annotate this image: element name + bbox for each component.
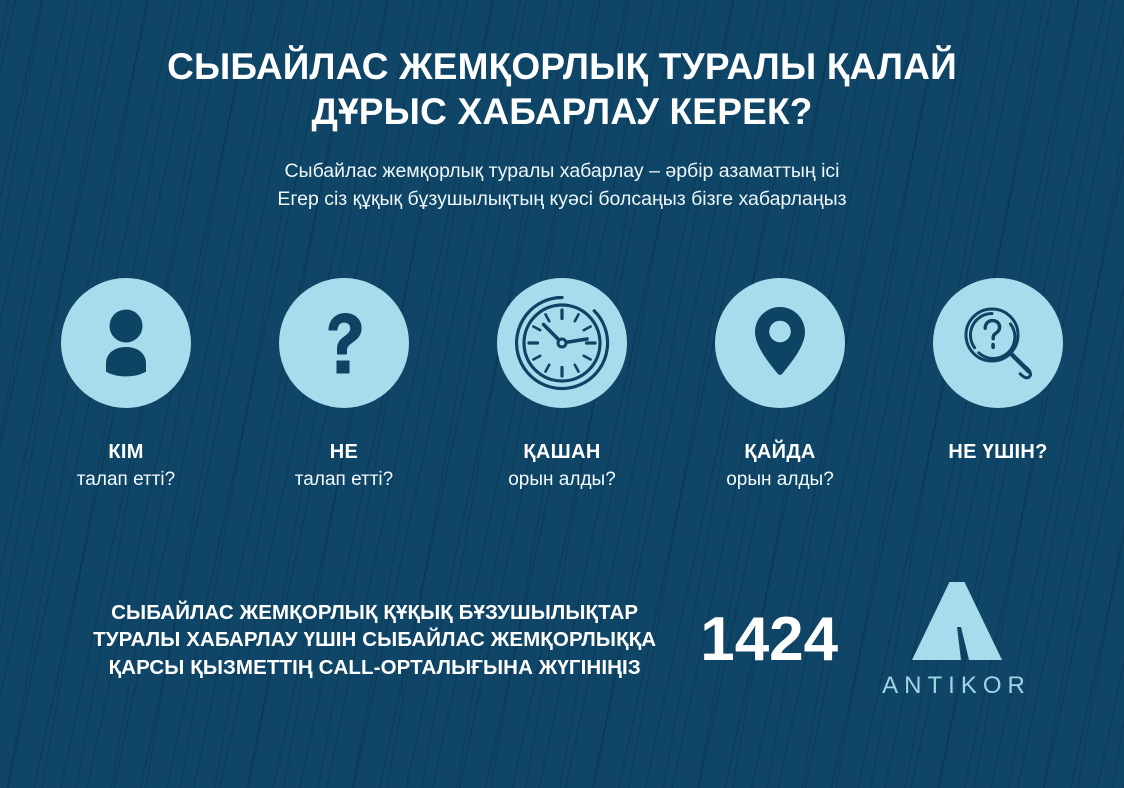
icon-label-what: НЕ талап етті? (295, 440, 393, 492)
icon-label-when-main: ҚАШАН (508, 440, 616, 466)
page-title-line-1: СЫБАЙЛАС ЖЕМҚОРЛЫҚ ТУРАЛЫ ҚАЛАЙ (95, 44, 1029, 89)
icon-label-when-sub: орын алды? (508, 468, 616, 492)
icon-label-what-sub: талап етті? (295, 468, 393, 492)
footer-instruction-text: СЫБАЙЛАС ЖЕМҚОРЛЫҚ ҚҰҚЫҚ БҰЗУШЫЛЫҚТАР ТУ… (93, 599, 656, 681)
icon-label-why: НЕ ҮШІН? (948, 440, 1047, 466)
brand-wordmark: ANTIKOR (882, 672, 1031, 700)
icon-label-where-sub: орын алды? (726, 468, 834, 492)
page-title: СЫБАЙЛАС ЖЕМҚОРЛЫҚ ТУРАЛЫ ҚАЛАЙ ДҰРЫС ХА… (0, 44, 1124, 134)
poster-root: СЫБАЙЛАС ЖЕМҚОРЛЫҚ ТУРАЛЫ ҚАЛАЙ ДҰРЫС ХА… (0, 0, 1124, 788)
page-subtitle-line-1: Сыбайлас жемқорлық туралы хабарлау – әрб… (0, 158, 1124, 186)
icon-label-what-main: НЕ (295, 440, 393, 466)
footer-line-2: ТУРАЛЫ ХАБАРЛАУ ҮШІН СЫБАЙЛАС ЖЕМҚОРЛЫҚҚ… (93, 626, 656, 653)
map-pin-icon (739, 299, 821, 387)
magnifier-question-icon (950, 295, 1046, 391)
clock-icon (508, 289, 616, 397)
icon-circle-when (497, 278, 627, 408)
hotline-number: 1424 (700, 609, 838, 671)
icon-cell-when: ҚАШАН орын алды? (453, 278, 671, 492)
icon-label-why-main: НЕ ҮШІН? (948, 440, 1047, 466)
icon-label-who-sub: талап етті? (77, 468, 175, 492)
page-subtitle-line-2: Егер сіз құқық бұзушылықтың куәсі болсаң… (0, 186, 1124, 214)
icon-circle-where (715, 278, 845, 408)
icon-grid: КІМ талап етті? НЕ талап етті? (0, 278, 1124, 508)
icon-label-where-main: ҚАЙДА (726, 440, 834, 466)
icon-cell-where: ҚАЙДА орын алды? (671, 278, 889, 492)
icon-cell-who: КІМ талап етті? (17, 278, 235, 492)
question-mark-icon (303, 302, 385, 384)
icon-label-who-main: КІМ (77, 440, 175, 466)
person-icon (85, 302, 167, 384)
icon-circle-who (61, 278, 191, 408)
brand-logo-block: ANTIKOR (882, 580, 1031, 700)
icon-circle-what (279, 278, 409, 408)
footer-line-3: ҚАРСЫ ҚЫЗМЕТТІҢ CALL-ОРТАЛЫҒЫНА ЖҮГІНІҢІ… (93, 654, 656, 681)
icon-label-where: ҚАЙДА орын алды? (726, 440, 834, 492)
icon-cell-what: НЕ талап етті? (235, 278, 453, 492)
icon-label-who: КІМ талап етті? (77, 440, 175, 492)
antikor-a-logo (909, 580, 1005, 666)
footer-block: СЫБАЙЛАС ЖЕМҚОРЛЫҚ ҚҰҚЫҚ БҰЗУШЫЛЫҚТАР ТУ… (0, 580, 1124, 700)
footer-line-1: СЫБАЙЛАС ЖЕМҚОРЛЫҚ ҚҰҚЫҚ БҰЗУШЫЛЫҚТАР (93, 599, 656, 626)
page-subtitle: Сыбайлас жемқорлық туралы хабарлау – әрб… (0, 158, 1124, 213)
icon-cell-why: НЕ ҮШІН? (889, 278, 1107, 466)
icon-label-when: ҚАШАН орын алды? (508, 440, 616, 492)
page-title-line-2: ДҰРЫС ХАБАРЛАУ КЕРЕК? (95, 89, 1029, 134)
icon-circle-why (933, 278, 1063, 408)
